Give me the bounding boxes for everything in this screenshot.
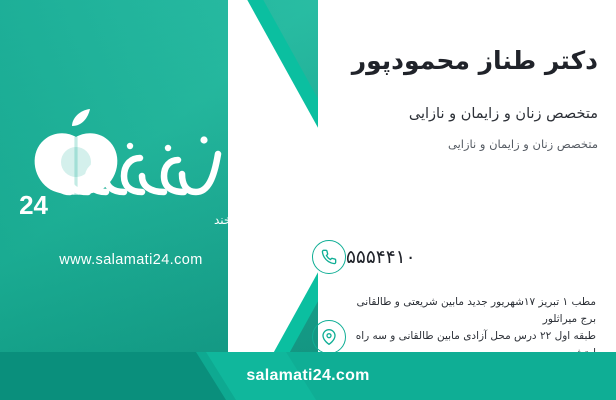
map-pin-icon [312,320,346,354]
doctor-specialty: متخصص زنان و زایمان و نازایی [298,106,598,122]
doctor-name: دکتر طناز محمودپور [298,46,598,75]
brand-panel: 24 براحتی یک لبخند www.salamati24.com [0,0,318,400]
footer-text: salamati24.com [0,352,616,400]
footer-bar: salamati24.com [0,352,616,400]
brand-website: www.salamati24.com [26,252,236,268]
doctor-specialty-secondary: متخصص زنان و زایمان و نازایی [298,137,598,151]
logo-badge-text: 24 [19,190,48,220]
brand-logo: 24 براحتی یک لبخند www.salamati24.com [18,96,242,276]
phone-number: ۵۵۵۴۴۱۰ [346,247,416,268]
phone-row[interactable]: ۵۵۵۴۴۱۰ [302,240,600,274]
wordmark-dots [127,136,208,151]
address-line-1: مطب ۱ تبریز ۱۷شهریور جدید مابین شریعتی و… [346,294,596,328]
business-card: 24 براحتی یک لبخند www.salamati24.com دک… [0,0,616,400]
info-panel: دکتر طناز محمودپور متخصص زنان و زایمان و… [286,0,616,400]
phone-icon [312,240,346,274]
badge-24: 24 [19,188,86,220]
divider [308,176,598,177]
